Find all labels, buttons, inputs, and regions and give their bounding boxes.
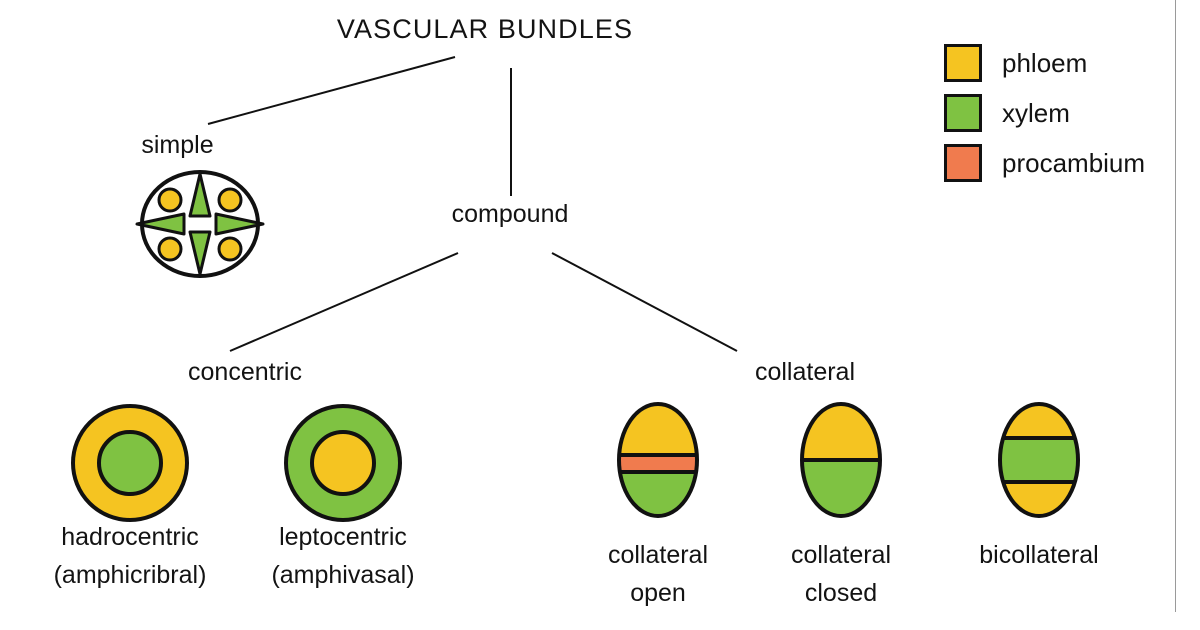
figure-hadrocentric [68,401,192,525]
caption-collateral-closed-line1: collateral [731,536,951,574]
phloem-dot-bottom-right [219,238,241,260]
caption-leptocentric-line2: (amphivasal) [233,556,453,594]
legend-label-procambium: procambium [1002,148,1145,179]
figure-bicollateral [996,400,1082,520]
leptocentric-inner-phloem [312,432,374,494]
collateral-open-procambium [615,455,701,472]
tree-node-simple: simple [95,131,260,160]
figure-collateral-open [615,400,701,520]
legend-label-phloem: phloem [1002,48,1087,79]
procambium-swatch-icon [944,144,982,182]
legend-label-xylem: xylem [1002,98,1070,129]
xylem-swatch-icon [944,94,982,132]
figure-collateral-closed [798,400,884,520]
phloem-dot-top-right [219,189,241,211]
figure-leptocentric [281,401,405,525]
caption-hadrocentric-line2: (amphicribral) [20,556,240,594]
hadrocentric-inner-xylem [99,432,161,494]
caption-collateral-closed-line2: closed [731,574,951,612]
figure-simple-bundle [132,164,268,284]
legend: phloem xylem procambium [944,38,1145,188]
bicollateral-xylem-middle [996,438,1082,482]
phloem-dot-top-left [159,189,181,211]
caption-bicollateral: bicollateral [929,536,1149,574]
collateral-closed-xylem [798,460,884,520]
tree-node-compound: compound [420,200,600,229]
legend-item-xylem: xylem [944,88,1145,138]
caption-leptocentric-line1: leptocentric [233,518,453,556]
caption-collateral-closed: collateral closed [731,536,951,612]
caption-hadrocentric-line1: hadrocentric [20,518,240,556]
legend-item-procambium: procambium [944,138,1145,188]
right-edge-divider [1175,0,1176,612]
diagram-canvas: VASCULAR BUNDLES simple compound concent… [0,0,1200,630]
connector-compound-to-collateral [552,253,737,351]
collateral-closed-phloem [798,400,884,460]
tree-node-collateral: collateral [715,358,895,387]
caption-leptocentric: leptocentric (amphivasal) [233,518,453,594]
page-title: VASCULAR BUNDLES [270,14,700,45]
connector-root-to-simple [208,57,455,124]
tree-node-concentric: concentric [155,358,335,387]
phloem-dot-bottom-left [159,238,181,260]
caption-hadrocentric: hadrocentric (amphicribral) [20,518,240,594]
phloem-swatch-icon [944,44,982,82]
caption-bicollateral-line1: bicollateral [929,536,1149,574]
legend-item-phloem: phloem [944,38,1145,88]
